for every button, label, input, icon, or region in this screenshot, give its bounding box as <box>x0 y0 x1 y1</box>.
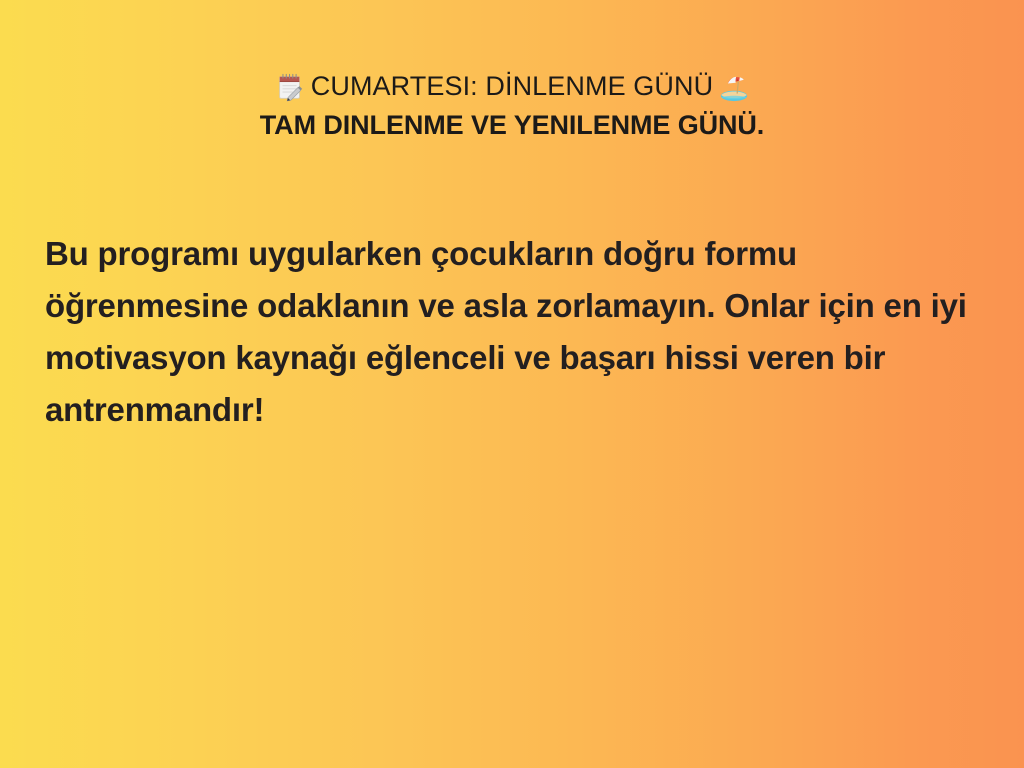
header-title-line-1-text: CUMARTESI: DİNLENME GÜNÜ <box>311 71 713 101</box>
slide-canvas: CUMARTESI: DİNLENME GÜNÜ TAM DINLENME VE… <box>0 0 1024 768</box>
spiral-notepad-icon <box>275 72 305 102</box>
body-paragraph: Bu programı uygularken çocukların doğru … <box>45 228 980 436</box>
slide-header: CUMARTESI: DİNLENME GÜNÜ TAM DINLENME VE… <box>0 66 1024 144</box>
beach-with-umbrella-icon <box>719 72 749 102</box>
header-title-line-2: TAM DINLENME VE YENILENME GÜNÜ. <box>0 106 1024 144</box>
header-title-line-1: CUMARTESI: DİNLENME GÜNÜ <box>0 66 1024 106</box>
